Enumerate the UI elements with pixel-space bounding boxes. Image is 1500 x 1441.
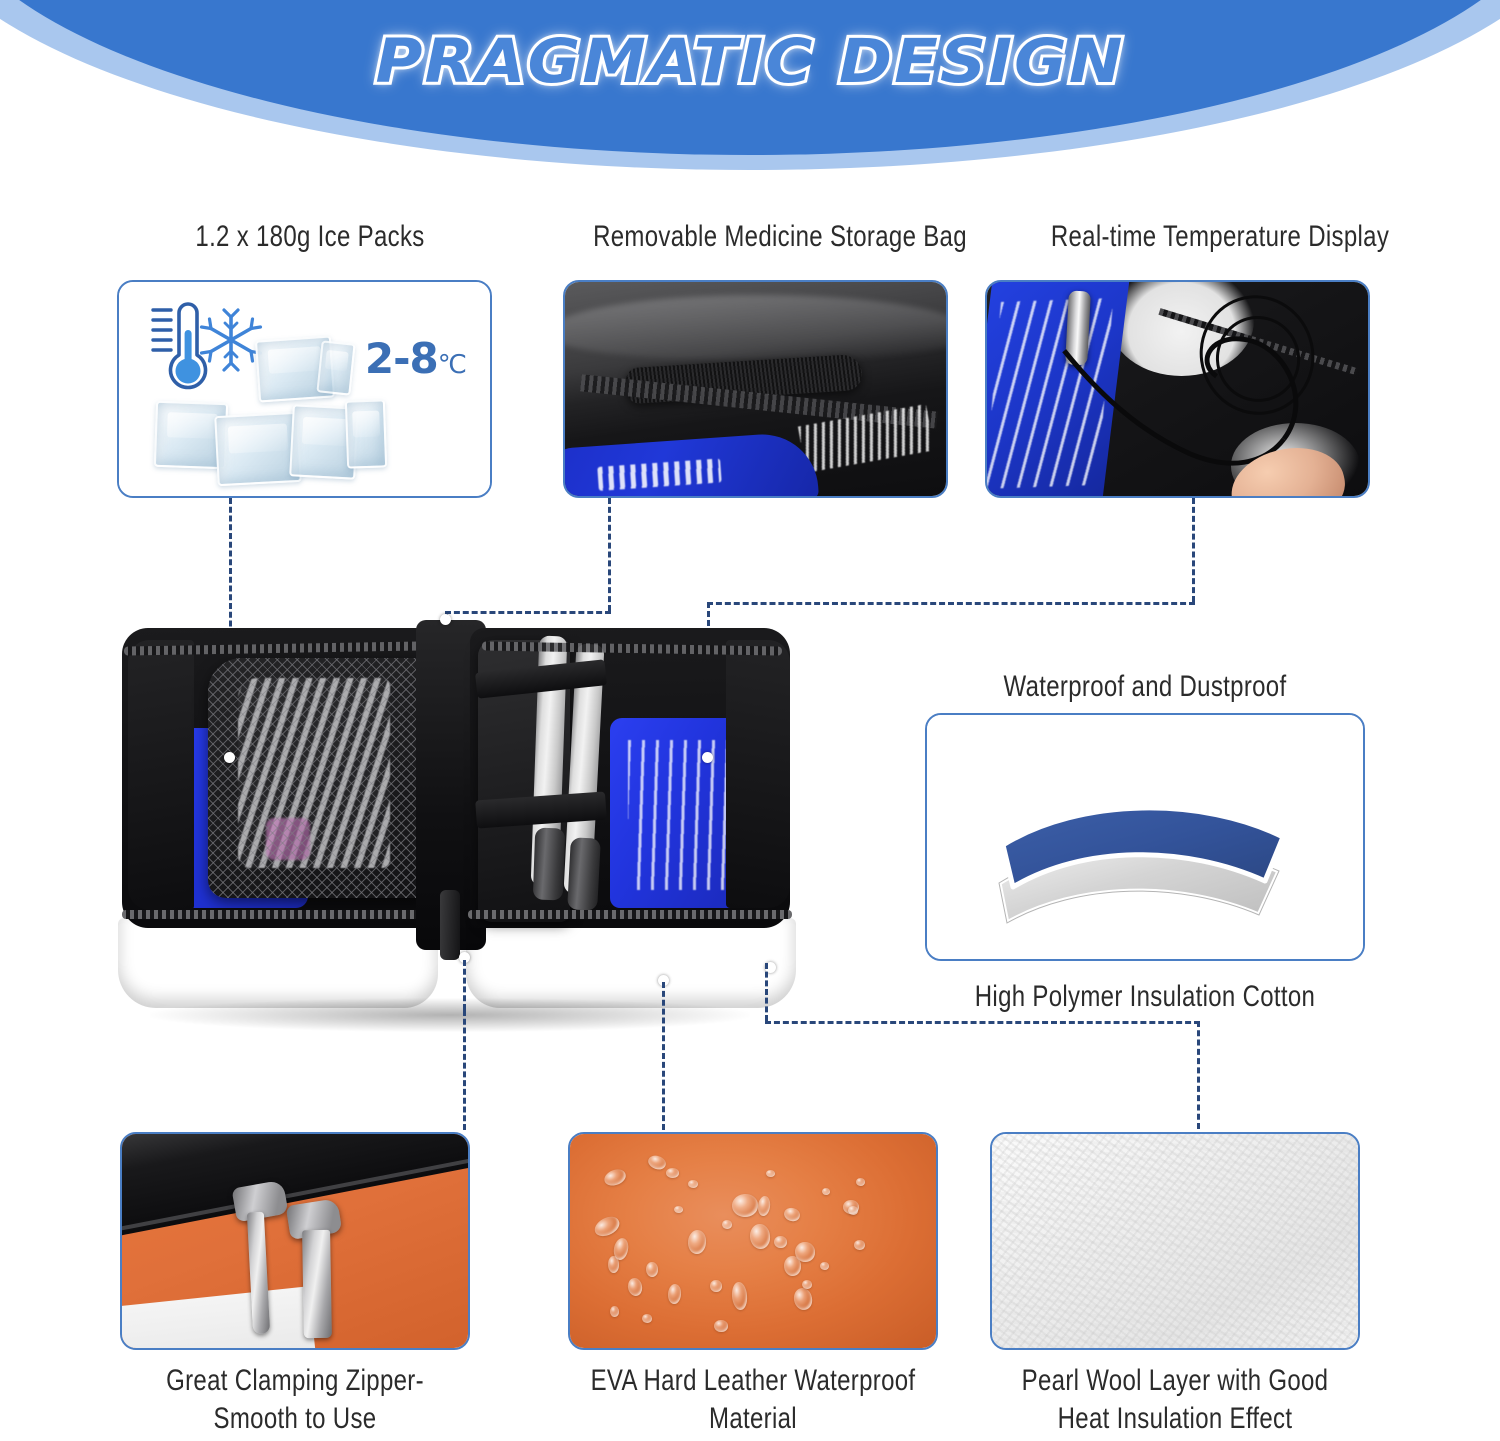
panel-temperature-sensor — [985, 280, 1370, 498]
case-left-lining — [128, 640, 194, 910]
product-photo-main — [110, 600, 800, 1040]
caption-temperature-display: Real-time Temperature Display — [988, 218, 1452, 256]
panel-storage-bag — [563, 280, 948, 498]
caption-zipper-line1: Great Clamping Zipper- — [99, 1362, 491, 1400]
caption-pearl-wool: Pearl Wool Layer with Good Heat Insulati… — [979, 1362, 1371, 1438]
caption-zipper-line2: Smooth to Use — [99, 1400, 491, 1438]
panel-ice-packs: 2-8℃ — [117, 280, 492, 498]
case-right-lining — [726, 640, 790, 908]
eva-waterproof-photo — [570, 1134, 936, 1348]
connector-waterproof-vertical — [765, 963, 768, 1021]
connector-zipper-from-case — [463, 960, 466, 1010]
caption-storage-bag: Removable Medicine Storage Bag — [548, 218, 1012, 256]
caption-wool-line1: Pearl Wool Layer with Good — [979, 1362, 1371, 1400]
caption-waterproof: Waterproof and Dustproof — [937, 668, 1353, 706]
caption-zipper: Great Clamping Zipper- Smooth to Use — [99, 1362, 491, 1438]
caption-eva-material: EVA Hard Leather Waterproof Material — [557, 1362, 949, 1438]
storage-bag-photo — [565, 282, 946, 496]
temperature-range-label: 2-8℃ — [365, 334, 466, 383]
pearl-wool-photo — [992, 1134, 1358, 1348]
connector-waterproof-horizontal — [765, 1021, 1200, 1024]
connector-storage-bag-vertical — [608, 498, 611, 611]
zipper-pull-tab-2 — [302, 1230, 332, 1338]
temperature-sensor-photo — [987, 282, 1368, 496]
anchor-dot-storage-bag — [440, 614, 451, 625]
connector-temp-vertical — [1192, 498, 1195, 602]
insulation-layers-illustration — [927, 715, 1363, 959]
insulin-pen-1-cap — [533, 827, 565, 900]
temperature-range-value: 2-8 — [365, 334, 438, 383]
zipper-right-edge — [468, 910, 792, 919]
zipper-closeup-photo — [122, 1134, 468, 1348]
anchor-dot-ice-pack — [224, 752, 235, 763]
temperature-unit: ℃ — [438, 350, 466, 380]
anchor-dot-temperature — [702, 752, 713, 763]
page-header: PRAGMATIC DESIGN — [0, 0, 1500, 175]
thermometer-snowflake-icon — [149, 300, 269, 400]
mesh-overlay-left — [208, 658, 426, 898]
caption-insulation-cotton: High Polymer Insulation Cotton — [921, 978, 1369, 1016]
panel-eva-material — [568, 1132, 938, 1350]
zipper-left-edge — [122, 910, 438, 919]
caption-ice-packs: 1.2 x 180g Ice Packs — [126, 218, 494, 256]
connector-eva-material — [662, 982, 665, 1130]
caption-eva-line1: EVA Hard Leather Waterproof — [557, 1362, 949, 1400]
connector-waterproof-drop — [1197, 1021, 1200, 1129]
caption-eva-line2: Material — [557, 1400, 949, 1438]
ice-pack-illustration: 2-8℃ — [119, 282, 490, 496]
orange-shell-right — [466, 918, 796, 1008]
panel-waterproof — [925, 713, 1365, 961]
page-title: PRAGMATIC DESIGN — [0, 26, 1500, 97]
center-zipper-pull — [440, 890, 460, 960]
insulin-pen-2-cap — [567, 837, 601, 910]
panel-pearl-wool — [990, 1132, 1360, 1350]
panel-zipper — [120, 1132, 470, 1350]
caption-wool-line2: Heat Insulation Effect — [979, 1400, 1371, 1438]
connector-zipper-drop — [463, 1010, 466, 1130]
orange-shell-left — [118, 918, 438, 1008]
